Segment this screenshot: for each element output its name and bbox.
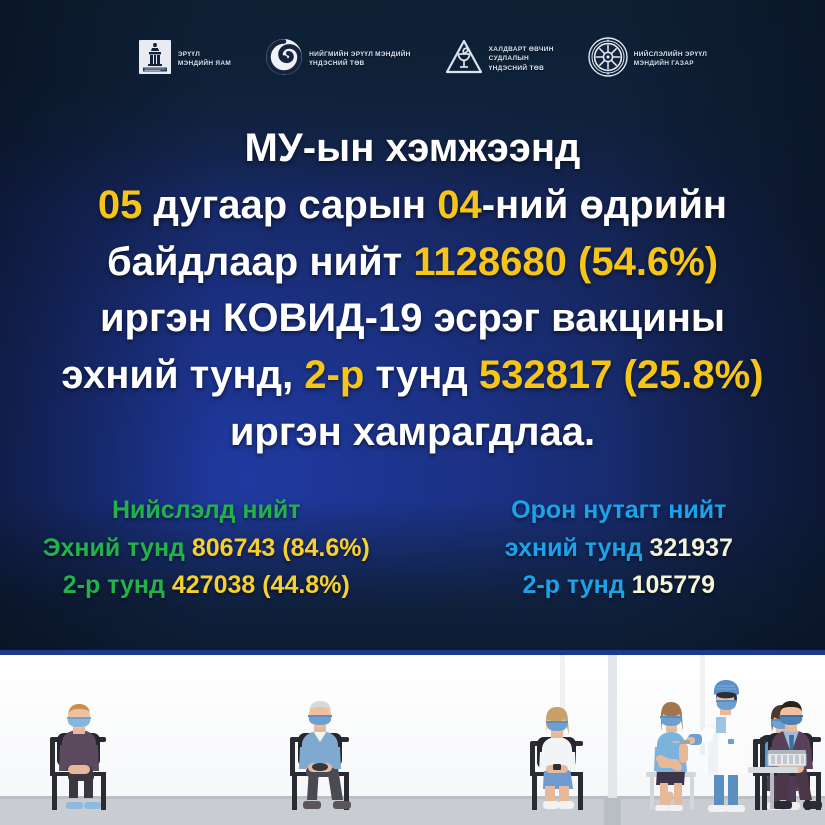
stats-row: Нийслэлд нийт Эхний тунд 806743 (84.6%) … [0, 492, 825, 605]
provinces-title: Орон нутагт нийт [421, 492, 818, 530]
headline-line-2-text-a: дугаар сарын [142, 183, 437, 227]
headline-line-2: 05 дугаар сарын 04-ний өдрийн [30, 177, 795, 234]
capital-dose2-label: 2-р тунд [63, 571, 172, 599]
capital-dose2-value: 427038 (44.8%) [172, 571, 350, 599]
logo-ministry-of-health: ЭРҮҮЛ МЭНДИЙН ЯАМ [138, 39, 231, 80]
provinces-dose2-label: 2-р тунд [522, 571, 631, 599]
capital-dose1-label: Эхний тунд [43, 534, 192, 562]
headline-line-5-text-b: тунд [364, 353, 479, 397]
logo-city-health-label: НИЙСЛЭЛИЙН ЭРҮҮЛ МЭНДИЙН ГАЗАР [634, 50, 707, 69]
infectious-disease-triangle-icon [445, 39, 483, 80]
headline-line-1: МУ-ын хэмжээнд [30, 120, 795, 177]
logo-ministry-label: ЭРҮҮЛ МЭНДИЙН ЯАМ [178, 50, 231, 69]
headline-line-2-text-b: -ний өдрийн [482, 183, 727, 227]
headline-block: МУ-ын хэмжээнд 05 дугаар сарын 04-ний өд… [0, 120, 825, 461]
capital-dose1-row: Эхний тунд 806743 (84.6%) [8, 530, 405, 568]
provinces-dose1-label: эхний тунд [505, 534, 650, 562]
infographic-poster: ЭРҮҮЛ МЭНДИЙН ЯАМ НИЙГМИЙН ЭРҮҮЛ МЭНДИЙН… [0, 0, 825, 825]
provinces-dose1-row: эхний тунд 321937 [421, 530, 818, 568]
stat-block-capital: Нийслэлд нийт Эхний тунд 806743 (84.6%) … [0, 492, 413, 605]
logo-infectious-disease-label: ХАЛДВАРТ ӨВЧИН СУДЛАЛЫН ҮНДЭСНИЙ ТӨВ [489, 45, 554, 73]
headline-dose-label: 2-р [304, 353, 364, 397]
headline-month: 05 [98, 183, 143, 227]
headline-line-4: иргэн КОВИД-19 эсрэг вакцины [30, 290, 795, 347]
headline-total-dose1: 1128680 (54.6%) [413, 240, 718, 284]
public-health-spiral-icon [265, 38, 303, 81]
headline-line-3: байдлаар нийт 1128680 (54.6%) [30, 234, 795, 291]
logo-public-health-label: НИЙГМИЙН ЭРҮҮЛ МЭНДИЙН ҮНДЭСНИЙ ТӨВ [309, 50, 411, 69]
headline-line-3-text: байдлаар нийт [107, 240, 413, 284]
logo-infectious-disease-center: ХАЛДВАРТ ӨВЧИН СУДЛАЛЫН ҮНДЭСНИЙ ТӨВ [445, 39, 554, 80]
capital-dose2-row: 2-р тунд 427038 (44.8%) [8, 567, 405, 605]
headline-day: 04 [437, 183, 482, 227]
city-health-seal-icon [588, 37, 628, 82]
vaccination-scene-illustration [0, 655, 825, 825]
headline-line-6: иргэн хамрагдлаа. [30, 404, 795, 461]
provinces-dose1-value: 321937 [649, 534, 732, 562]
headline-line-5-text-a: эхний тунд, [61, 353, 304, 397]
illustration-frame [0, 650, 825, 825]
headline-total-dose2: 532817 (25.8%) [479, 353, 764, 397]
capital-title: Нийслэлд нийт [8, 492, 405, 530]
stat-block-provinces: Орон нутагт нийт эхний тунд 321937 2-р т… [413, 492, 825, 605]
vaccination-scene-svg [0, 655, 825, 825]
provinces-dose2-value: 105779 [632, 571, 715, 599]
provinces-dose2-row: 2-р тунд 105779 [421, 567, 818, 605]
logo-public-health-center: НИЙГМИЙН ЭРҮҮЛ МЭНДИЙН ҮНДЭСНИЙ ТӨВ [265, 38, 411, 81]
logo-city-health-department: НИЙСЛЭЛИЙН ЭРҮҮЛ МЭНДИЙН ГАЗАР [588, 37, 707, 82]
logo-bar: ЭРҮҮЛ МЭНДИЙН ЯАМ НИЙГМИЙН ЭРҮҮЛ МЭНДИЙН… [0, 28, 825, 90]
capital-dose1-value: 806743 (84.6%) [192, 534, 370, 562]
ministry-emblem-icon [138, 39, 172, 80]
headline-line-5: эхний тунд, 2-р тунд 532817 (25.8%) [30, 347, 795, 404]
